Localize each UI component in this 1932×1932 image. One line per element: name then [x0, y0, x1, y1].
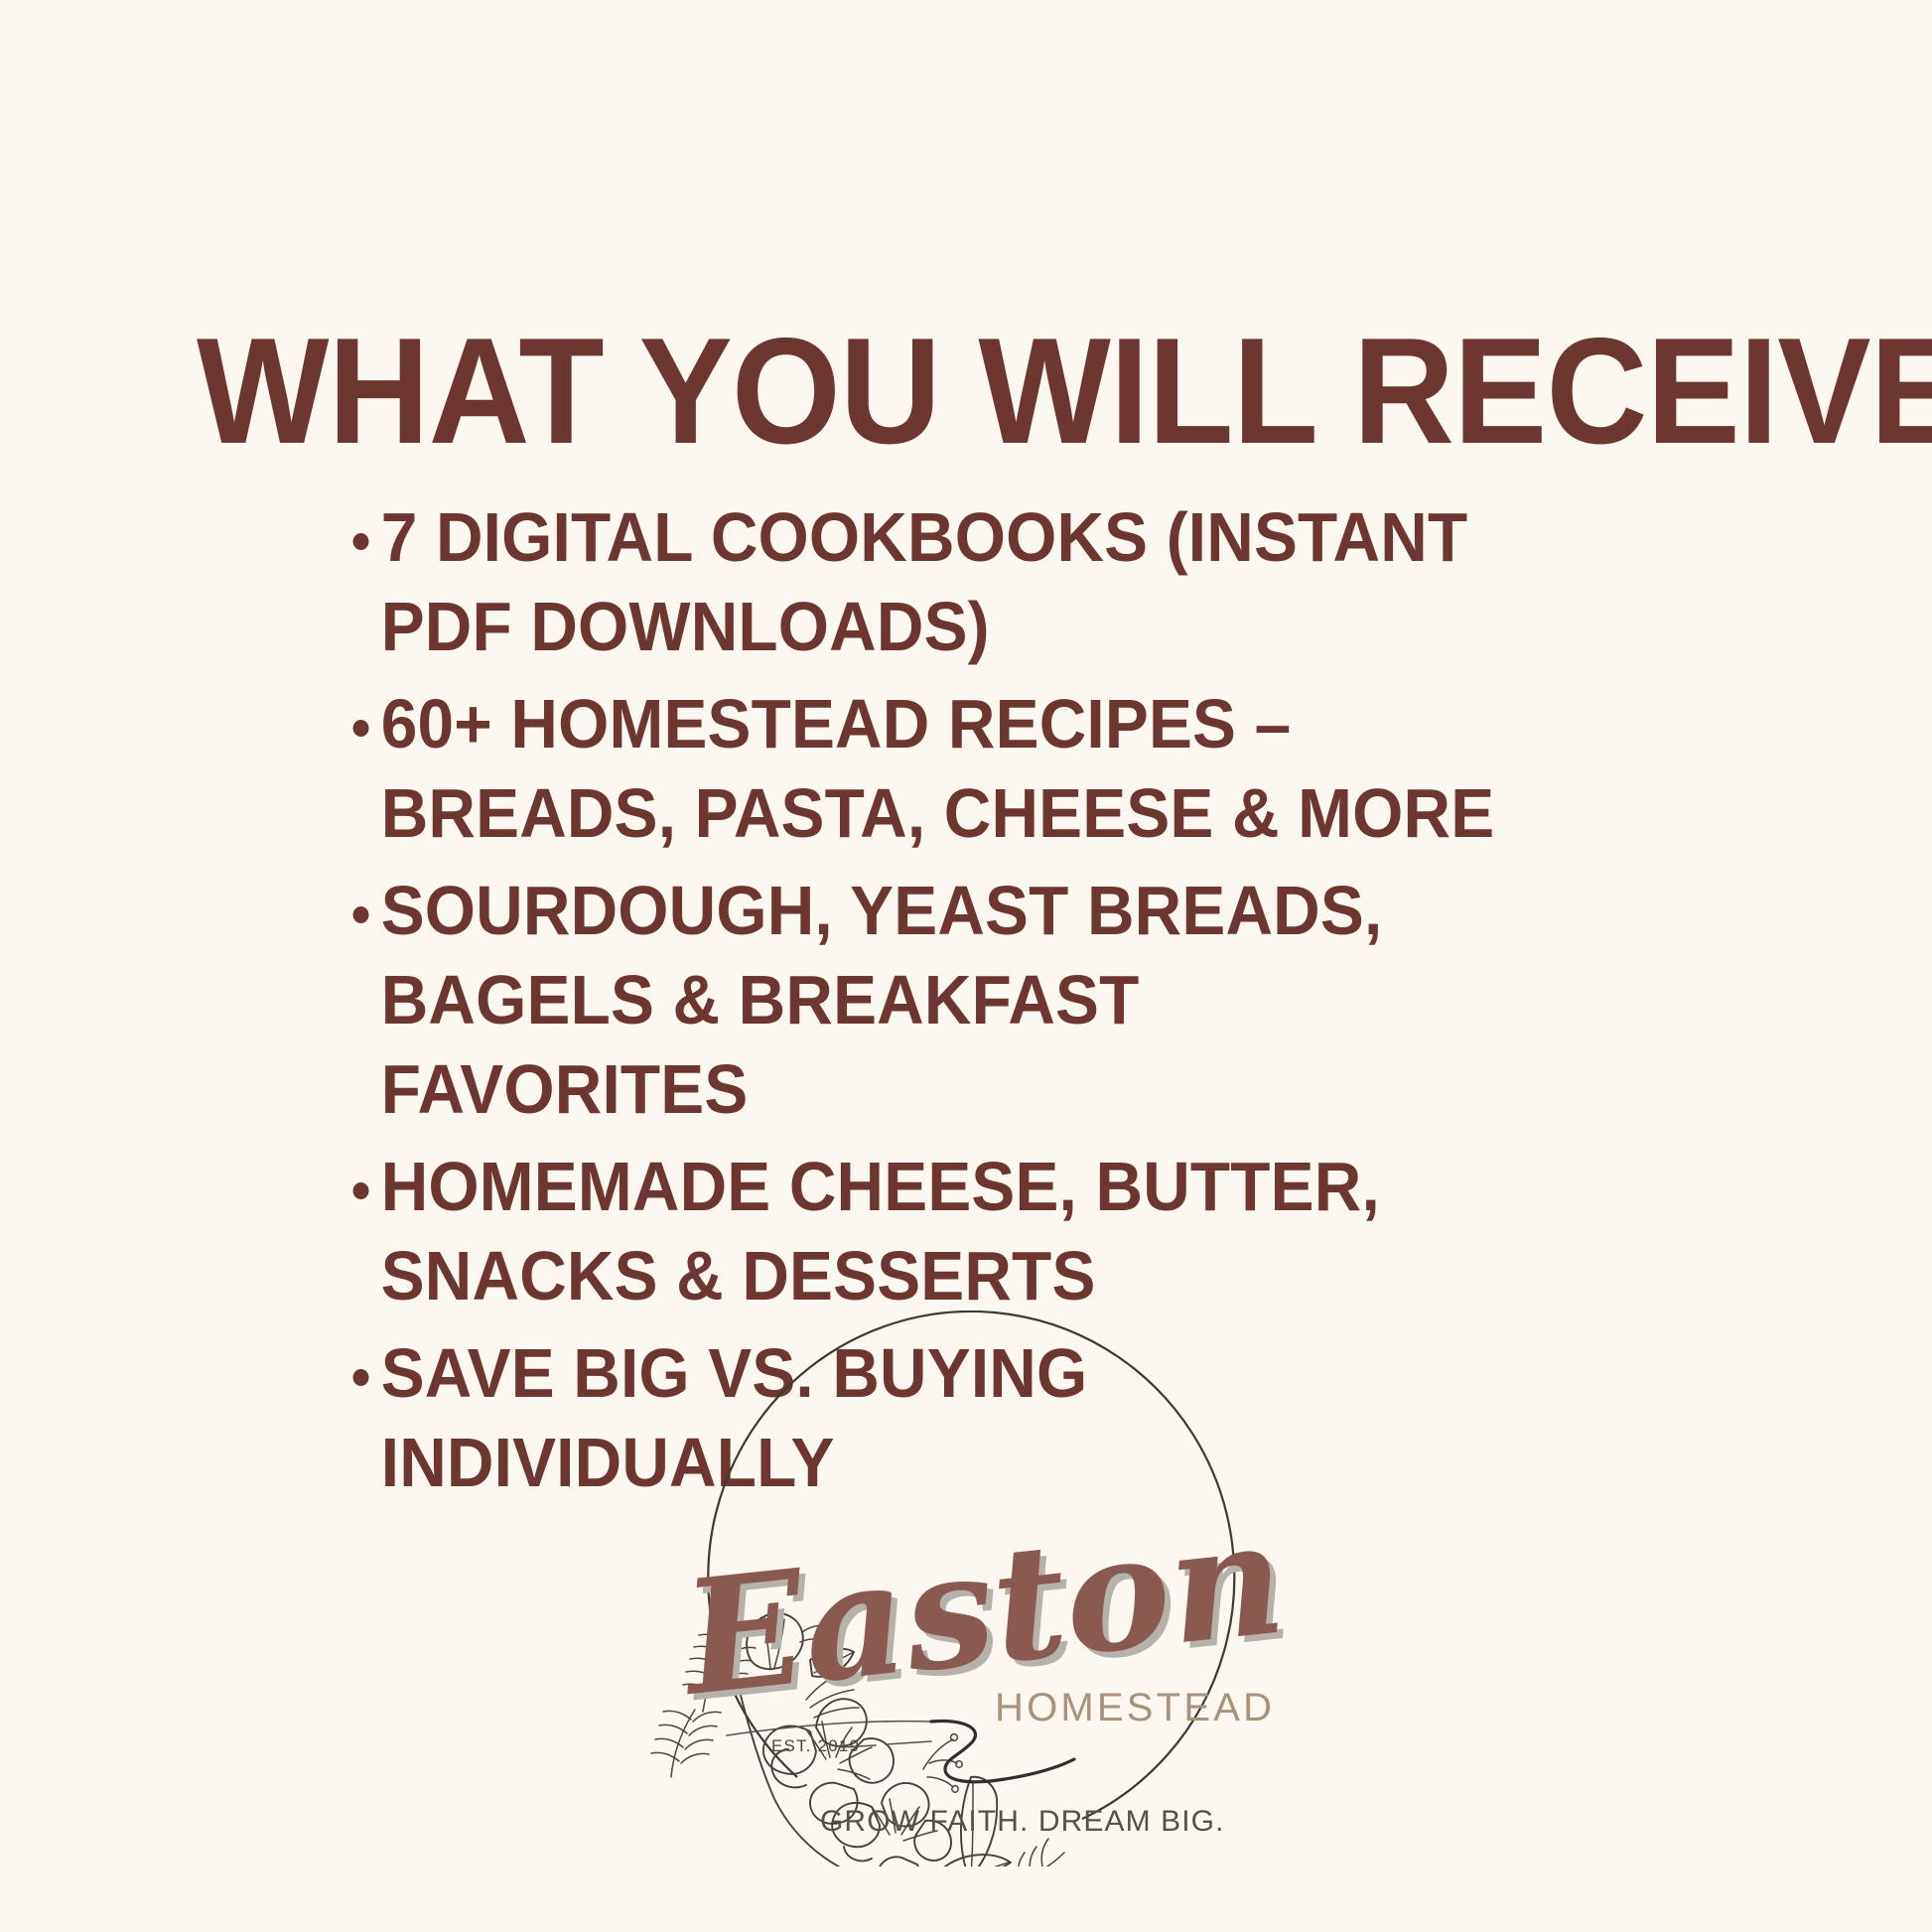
list-item: 60+ HOMESTEAD RECIPES – BREADS, PASTA, C…: [345, 679, 1521, 858]
list-item: SOURDOUGH, YEAST BREADS, BAGELS & BREAKF…: [345, 866, 1521, 1134]
list-item: 7 DIGITAL COOKBOOKS (INSTANT PDF DOWNLOA…: [345, 492, 1521, 671]
brand-subtitle: HOMESTEAD: [995, 1686, 1275, 1729]
brand-tagline: GROW FAITH. DREAM BIG.: [820, 1805, 1225, 1838]
established-label: EST. 2019: [771, 1736, 860, 1755]
page-title: WHAT YOU WILL RECEIVE:: [197, 316, 1674, 467]
list-item: HOMEMADE CHEESE, BUTTER, SNACKS & DESSER…: [345, 1142, 1521, 1320]
poster-canvas: WHAT YOU WILL RECEIVE: 7 DIGITAL COOKBOO…: [0, 0, 1932, 1932]
brand-logo: Easton Easton HOMESTEAD EST. 2019 GROW F…: [616, 1311, 1316, 1866]
